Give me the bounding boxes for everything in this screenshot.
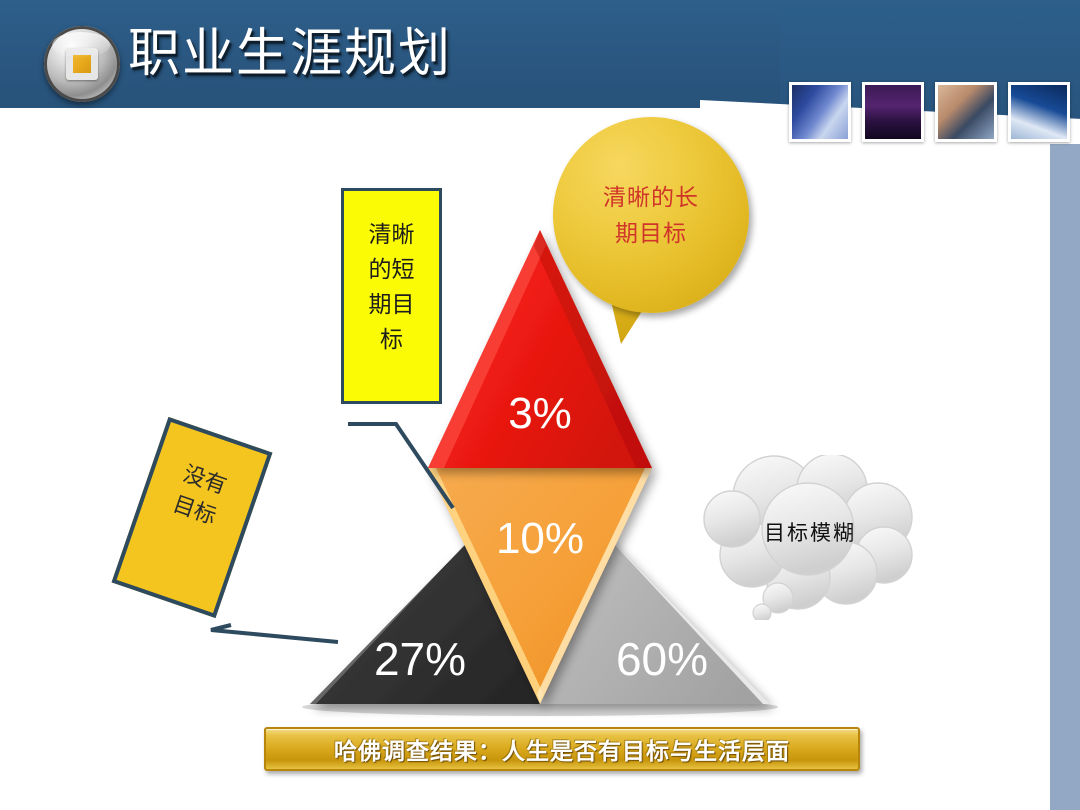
callout-long-term-goal[interactable]: 清晰的长 期目标 (553, 117, 749, 313)
segment-value-middle: 10% (496, 514, 584, 563)
callout-vague-goal[interactable]: 目标模糊 (700, 455, 920, 620)
callout-no-goal-label: 没有目标 (161, 455, 239, 535)
segment-value-top: 3% (508, 389, 572, 438)
callout-long-term-goal-label: 清晰的长 期目标 (603, 179, 699, 251)
caption-bar: 哈佛调查结果：人生是否有目标与生活层面 (264, 727, 860, 771)
callout-short-term-goal-label: 清晰的短期目标 (361, 217, 423, 357)
caption-text: 哈佛调查结果：人生是否有目标与生活层面 (334, 732, 790, 766)
pyramid-diagram: 3% 10% 27% 60% (0, 0, 1080, 810)
segment-value-right: 60% (616, 633, 708, 685)
slide-canvas: 职业生涯规划 (0, 0, 1080, 810)
segment-value-left: 27% (374, 633, 466, 685)
callout-vague-goal-label: 目标模糊 (700, 517, 920, 547)
callout-short-term-goal[interactable]: 清晰的短期目标 (341, 188, 442, 404)
